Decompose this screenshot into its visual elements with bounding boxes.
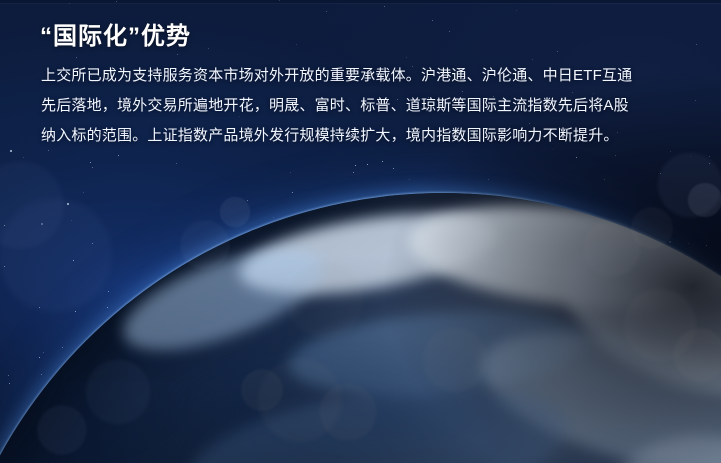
paragraph-line-3: 纳入标的范围。上证指数产品境外发行规模持续扩大，境内指数国际影响力不断提升。 xyxy=(41,121,689,151)
banner-paragraph: 上交所已成为支持服务资本市场对外开放的重要承载体。沪港通、沪伦通、中日ETF互通… xyxy=(41,61,689,151)
international-advantage-banner: “国际化”优势 上交所已成为支持服务资本市场对外开放的重要承载体。沪港通、沪伦通… xyxy=(0,0,721,463)
paragraph-line-1: 上交所已成为支持服务资本市场对外开放的重要承载体。沪港通、沪伦通、中日ETF互通 xyxy=(41,61,689,91)
banner-title: “国际化”优势 xyxy=(40,23,191,52)
paragraph-line-2: 先后落地，境外交易所遍地开花，明晟、富时、标普、道琼斯等国际主流指数先后将A股 xyxy=(41,91,689,121)
